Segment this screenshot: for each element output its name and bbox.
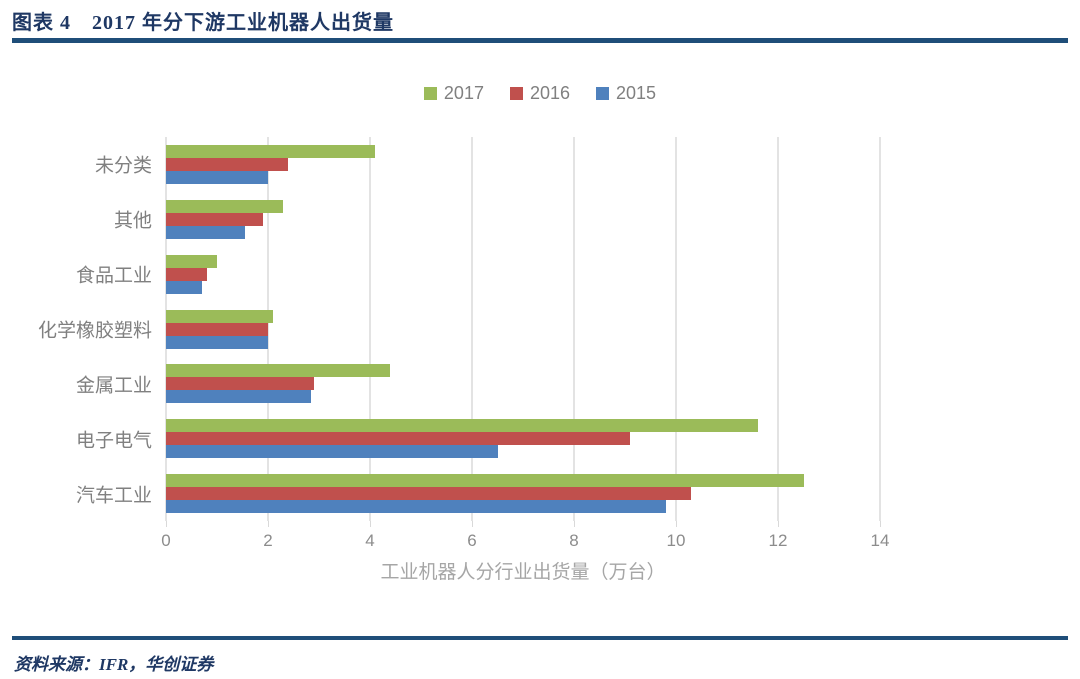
x-axis-tick-label: 4 <box>365 531 374 551</box>
x-axis-tick-label: 0 <box>161 531 170 551</box>
bar-2016[interactable] <box>166 158 288 171</box>
bar-group: 汽车工业 <box>166 474 880 513</box>
y-axis-category-label: 化学橡胶塑料 <box>38 316 152 343</box>
x-axis-title: 工业机器人分行业出货量（万台） <box>166 557 880 584</box>
y-axis-category-label: 其他 <box>114 206 152 233</box>
legend-item-2015[interactable]: 2015 <box>596 84 656 102</box>
plot-area: 02468101214未分类其他食品工业化学橡胶塑料金属工业电子电气汽车工业 <box>166 137 880 521</box>
bar-2015[interactable] <box>166 445 498 458</box>
bar-2015[interactable] <box>166 336 268 349</box>
bar-2015[interactable] <box>166 171 268 184</box>
x-axis-tick-mark <box>472 521 473 527</box>
x-axis-tick-label: 12 <box>769 531 788 551</box>
y-axis-category-label: 电子电气 <box>76 425 152 452</box>
legend-label: 2016 <box>530 84 570 102</box>
bar-2015[interactable] <box>166 390 311 403</box>
x-axis-tick-mark <box>880 521 881 527</box>
x-axis-tick-mark <box>268 521 269 527</box>
x-axis-tick-mark <box>370 521 371 527</box>
bar-2016[interactable] <box>166 377 314 390</box>
chart-canvas: 02468101214未分类其他食品工业化学橡胶塑料金属工业电子电气汽车工业 工… <box>0 120 1080 620</box>
x-axis-tick-label: 2 <box>263 531 272 551</box>
legend-label: 2015 <box>616 84 656 102</box>
bar-2016[interactable] <box>166 487 691 500</box>
bar-group: 化学橡胶塑料 <box>166 310 880 349</box>
footer-divider <box>12 636 1068 640</box>
bar-2017[interactable] <box>166 419 758 432</box>
bar-2017[interactable] <box>166 364 390 377</box>
y-axis-category-label: 未分类 <box>95 151 152 178</box>
y-axis-category-label: 金属工业 <box>76 370 152 397</box>
bar-2017[interactable] <box>166 145 375 158</box>
x-axis-tick-mark <box>778 521 779 527</box>
chart-legend: 201720162015 <box>0 84 1080 102</box>
x-axis-tick-mark <box>676 521 677 527</box>
bar-2016[interactable] <box>166 268 207 281</box>
bar-2016[interactable] <box>166 323 268 336</box>
page-title: 图表 4 2017 年分下游工业机器人出货量 <box>12 6 394 35</box>
source-note: 资料来源：IFR，华创证券 <box>14 650 213 675</box>
y-axis-category-label: 汽车工业 <box>76 480 152 507</box>
bar-2016[interactable] <box>166 213 263 226</box>
x-axis-tick-mark <box>166 521 167 527</box>
bar-2015[interactable] <box>166 281 202 294</box>
bar-2017[interactable] <box>166 310 273 323</box>
bar-2016[interactable] <box>166 432 630 445</box>
bar-2017[interactable] <box>166 200 283 213</box>
legend-swatch-icon <box>596 87 609 100</box>
bar-2017[interactable] <box>166 255 217 268</box>
x-axis-tick-label: 10 <box>667 531 686 551</box>
bar-2017[interactable] <box>166 474 804 487</box>
legend-label: 2017 <box>444 84 484 102</box>
legend-item-2017[interactable]: 2017 <box>424 84 484 102</box>
x-axis-tick-label: 14 <box>871 531 890 551</box>
bar-2015[interactable] <box>166 500 666 513</box>
x-axis-tick-label: 6 <box>467 531 476 551</box>
x-axis-tick-label: 8 <box>569 531 578 551</box>
bar-group: 未分类 <box>166 145 880 184</box>
y-axis-category-label: 食品工业 <box>76 261 152 288</box>
bar-group: 食品工业 <box>166 255 880 294</box>
bar-group: 金属工业 <box>166 364 880 403</box>
header-divider <box>12 38 1068 43</box>
bar-2015[interactable] <box>166 226 245 239</box>
bar-group: 其他 <box>166 200 880 239</box>
legend-swatch-icon <box>424 87 437 100</box>
bar-group: 电子电气 <box>166 419 880 458</box>
x-axis-tick-mark <box>574 521 575 527</box>
chart-header: 图表 4 2017 年分下游工业机器人出货量 <box>0 0 1080 48</box>
legend-swatch-icon <box>510 87 523 100</box>
legend-item-2016[interactable]: 2016 <box>510 84 570 102</box>
